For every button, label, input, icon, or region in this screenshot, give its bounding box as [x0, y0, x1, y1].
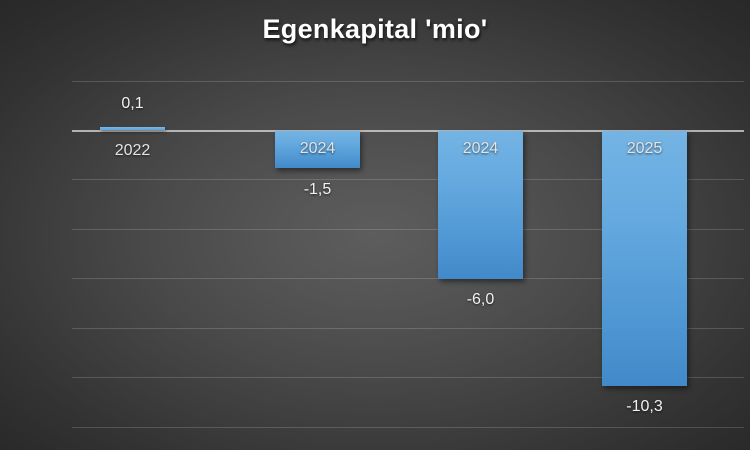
bar-2022[interactable] — [100, 127, 165, 130]
gridline-2 — [72, 81, 744, 82]
bar-value-label-2022: 0,1 — [100, 95, 165, 113]
gridline-minus-12 — [72, 427, 744, 428]
bar-category-label-2022: 2022 — [86, 142, 179, 160]
chart-title: Egenkapital 'mio' — [0, 14, 750, 45]
plot-area: 2,0 0,0 -2,0 -4,0 -6,0 -8,0 -10,0 -12,0 … — [72, 81, 744, 427]
bar-value-label-2025: -10,3 — [597, 398, 692, 416]
bar-category-label-2024-b: 2024 — [438, 140, 523, 158]
bar-2025[interactable] — [602, 131, 687, 386]
bar-value-label-2024-a: -1,5 — [270, 181, 365, 199]
bar-value-label-2024-b: -6,0 — [433, 291, 528, 309]
bar-category-label-2024-a: 2024 — [275, 140, 360, 158]
bar-chart: Egenkapital 'mio' 2,0 0,0 -2,0 -4,0 -6,0… — [0, 0, 750, 450]
bar-category-label-2025: 2025 — [602, 140, 687, 158]
